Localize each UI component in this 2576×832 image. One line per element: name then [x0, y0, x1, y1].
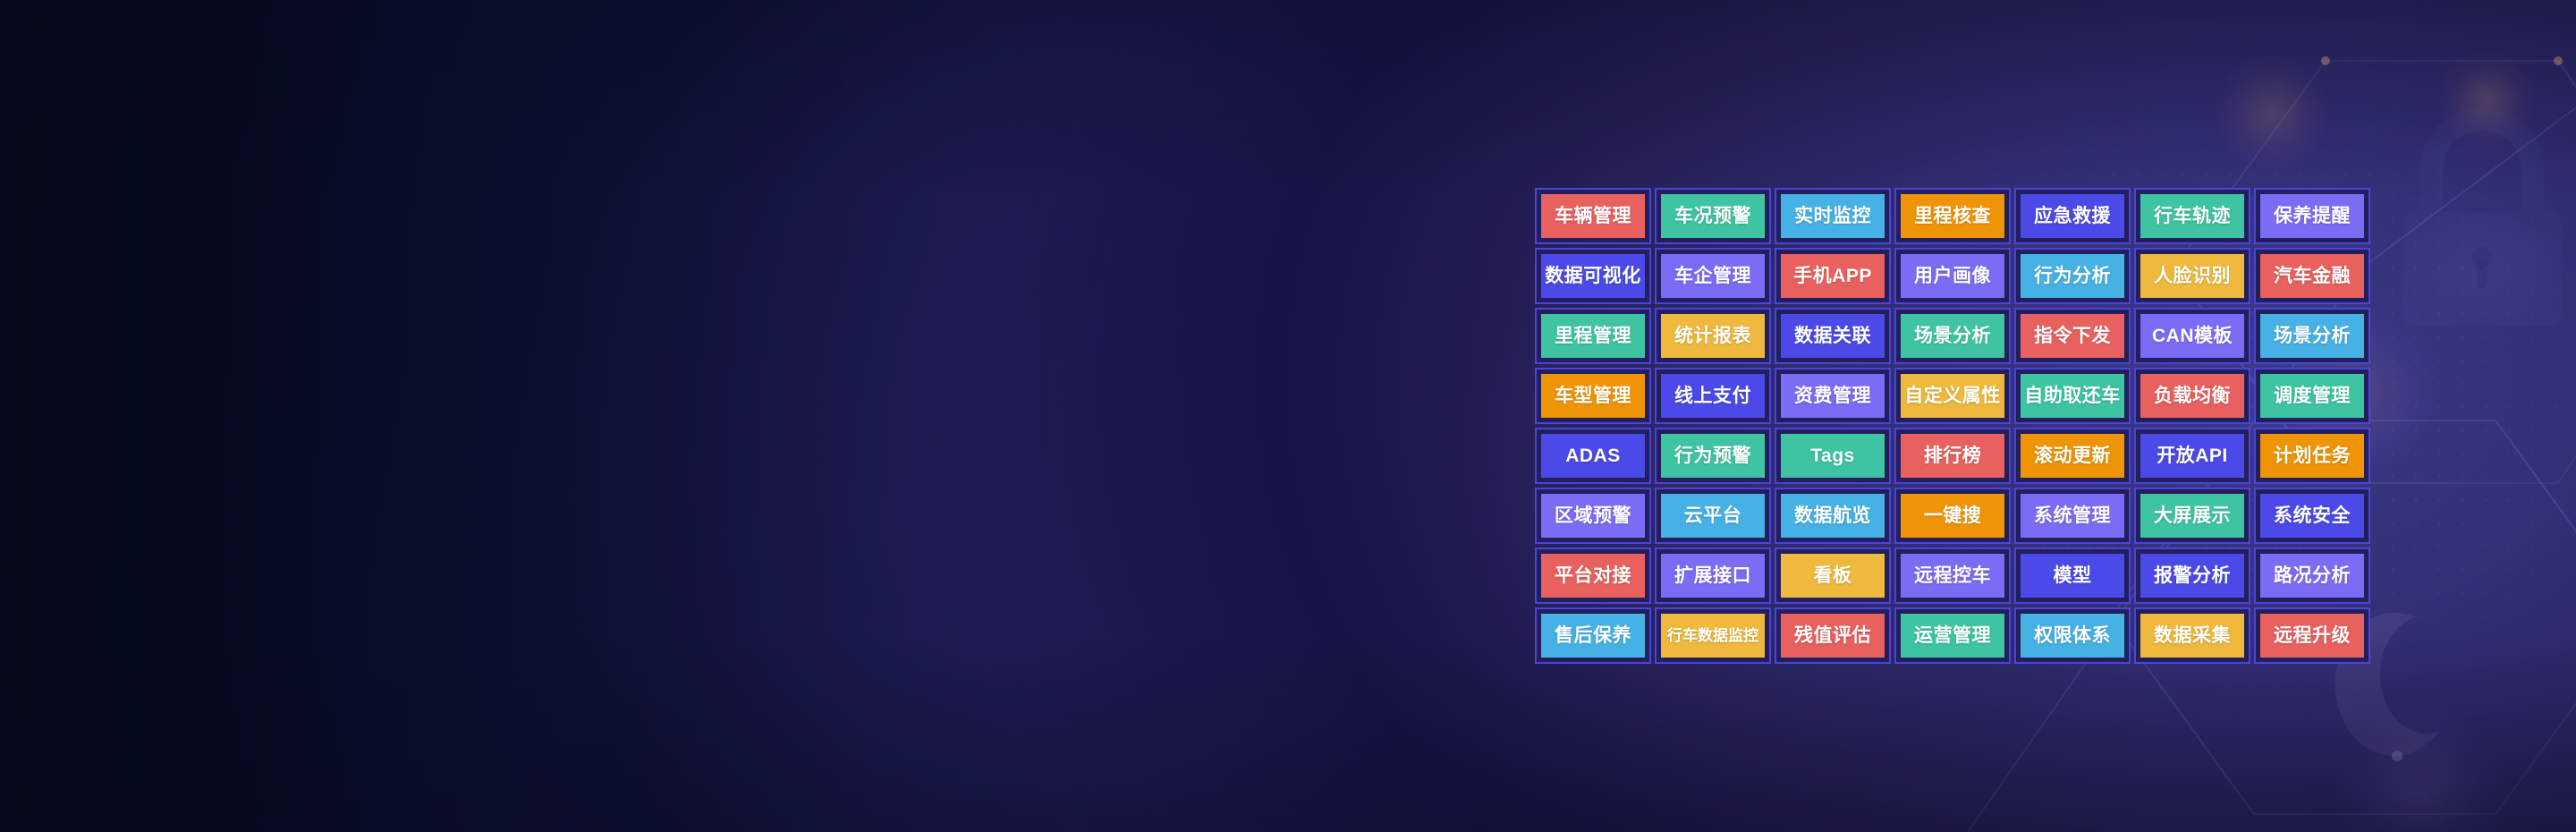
feature-tag-fill: 模型	[2021, 554, 2124, 598]
feature-tag-fill: 自定义属性	[1901, 374, 2004, 418]
feature-tag[interactable]: 场景分析	[1894, 308, 2011, 364]
feature-tag-fill: 排行榜	[1901, 434, 2004, 478]
feature-tag-fill: 场景分析	[2260, 314, 2364, 358]
feature-tag-fill: CAN模板	[2140, 314, 2244, 358]
feature-tag[interactable]: Tags	[1775, 428, 1891, 484]
feature-tag[interactable]: 路况分析	[2254, 548, 2370, 604]
feature-tag-fill: 汽车金融	[2260, 254, 2364, 298]
feature-tag-fill: 滚动更新	[2021, 434, 2124, 478]
feature-tag-label: 远程升级	[2274, 626, 2351, 645]
feature-tag-fill: 人脸识别	[2140, 254, 2244, 298]
feature-tag-label: 滚动更新	[2034, 446, 2111, 465]
feature-tag[interactable]: 数据关联	[1775, 308, 1891, 364]
feature-tag[interactable]: 大屏展示	[2134, 488, 2250, 544]
feature-tag-label: 运营管理	[1914, 626, 1991, 645]
feature-tag-label: 数据可视化	[1545, 267, 1641, 285]
feature-tag-fill: 平台对接	[1541, 554, 1645, 598]
feature-tag[interactable]: 系统管理	[2014, 488, 2131, 544]
feature-tag[interactable]: 数据航览	[1775, 488, 1891, 544]
feature-tag[interactable]: 调度管理	[2254, 368, 2370, 424]
feature-tag-label: 场景分析	[1914, 327, 1991, 345]
feature-tag-label: 负载均衡	[2154, 386, 2231, 405]
feature-tag-label: 里程管理	[1555, 327, 1631, 345]
feature-tag-fill: 行为预警	[1661, 434, 1765, 478]
feature-tag-label: 排行榜	[1924, 446, 1982, 465]
feature-tag-fill: 用户画像	[1901, 254, 2004, 298]
feature-tag[interactable]: 自助取还车	[2014, 368, 2131, 424]
feature-tag-label: 线上支付	[1674, 386, 1751, 405]
feature-tag[interactable]: 报警分析	[2134, 548, 2250, 604]
feature-tag-fill: 里程核查	[1901, 194, 2004, 238]
feature-tag[interactable]: 一键搜	[1894, 488, 2011, 544]
feature-tag[interactable]: 开放API	[2134, 428, 2250, 484]
feature-tag-label: 大屏展示	[2154, 506, 2231, 525]
feature-tag-fill: 手机APP	[1781, 254, 1885, 298]
feature-tag-fill: 车况预警	[1661, 194, 1765, 238]
feature-tag-label: 看板	[1814, 566, 1852, 585]
feature-tag[interactable]: 模型	[2014, 548, 2131, 604]
feature-tag-label: 数据关联	[1794, 327, 1871, 345]
feature-tag-label: 模型	[2054, 566, 2092, 585]
feature-tag-fill: 行车轨迹	[2140, 194, 2244, 238]
feature-tag-label: Tags	[1810, 446, 1854, 465]
feature-tag-fill: 里程管理	[1541, 314, 1645, 358]
feature-tag[interactable]: 区域预警	[1535, 488, 1651, 544]
feature-tag[interactable]: 人脸识别	[2134, 248, 2250, 304]
feature-tag[interactable]: ADAS	[1535, 428, 1651, 484]
screenshot-canvas: 车辆管理车况预警实时监控里程核查应急救援行车轨迹保养提醒数据可视化车企管理手机A…	[0, 0, 2576, 832]
feature-tag[interactable]: 资费管理	[1775, 368, 1891, 424]
feature-tag-label: 计划任务	[2274, 446, 2351, 465]
feature-tag-fill: 场景分析	[1901, 314, 2004, 358]
feature-tag-fill: 权限体系	[2021, 614, 2124, 658]
feature-tag-label: 数据采集	[2154, 626, 2231, 645]
feature-tag[interactable]: 负载均衡	[2134, 368, 2250, 424]
feature-tag-fill: 售后保养	[1541, 614, 1645, 658]
feature-tag[interactable]: 车辆管理	[1535, 188, 1651, 244]
feature-tag-label: 实时监控	[1794, 207, 1871, 225]
feature-tag-fill: 调度管理	[2260, 374, 2364, 418]
feature-tag-fill: ADAS	[1541, 434, 1645, 478]
feature-tag-fill: 远程升级	[2260, 614, 2364, 658]
feature-tag[interactable]: 滚动更新	[2014, 428, 2131, 484]
feature-tag-label: 资费管理	[1794, 386, 1871, 405]
feature-tag-fill: 残值评估	[1781, 614, 1885, 658]
feature-tag-label: 车辆管理	[1555, 207, 1631, 225]
feature-tag-label: 权限体系	[2034, 626, 2111, 645]
feature-tag-fill: 大屏展示	[2140, 494, 2244, 538]
feature-tag-label: 车型管理	[1555, 386, 1631, 405]
feature-tag-fill: 自助取还车	[2021, 374, 2124, 418]
feature-tag-label: 一键搜	[1924, 506, 1982, 525]
feature-tag-label: 系统安全	[2274, 506, 2351, 525]
feature-tag-label: 区域预警	[1555, 506, 1631, 525]
feature-tag-fill: 指令下发	[2021, 314, 2124, 358]
feature-tag[interactable]: 指令下发	[2014, 308, 2131, 364]
feature-tag[interactable]: 自定义属性	[1894, 368, 2011, 424]
feature-tag[interactable]: 权限体系	[2014, 607, 2131, 664]
feature-tag-label: 手机APP	[1793, 267, 1872, 285]
feature-tag-label: 系统管理	[2034, 506, 2111, 525]
feature-tag-label: 残值评估	[1794, 626, 1871, 645]
feature-tag-fill: 远程控车	[1901, 554, 2004, 598]
feature-tag-label: 用户画像	[1914, 267, 1991, 285]
feature-tag[interactable]: 车况预警	[1655, 188, 1771, 244]
feature-tag-fill: 路况分析	[2260, 554, 2364, 598]
feature-tag-fill: 行车数据监控	[1661, 614, 1765, 658]
feature-tag-label: 报警分析	[2154, 566, 2231, 585]
feature-tag[interactable]: CAN模板	[2134, 308, 2250, 364]
feature-tag[interactable]: 应急救援	[2014, 188, 2131, 244]
feature-tag-fill: 看板	[1781, 554, 1885, 598]
feature-tag-fill: 数据航览	[1781, 494, 1885, 538]
feature-tag-fill: 实时监控	[1781, 194, 1885, 238]
feature-tag-label: 调度管理	[2274, 386, 2351, 405]
feature-tag-fill: 线上支付	[1661, 374, 1765, 418]
feature-tag[interactable]: 行车数据监控	[1655, 607, 1771, 664]
feature-tag-label: 指令下发	[2034, 327, 2111, 345]
feature-tag-fill: 数据可视化	[1541, 254, 1645, 298]
feature-tag-fill: 计划任务	[2260, 434, 2364, 478]
feature-tag[interactable]: 计划任务	[2254, 428, 2370, 484]
feature-tag[interactable]: 云平台	[1655, 488, 1771, 544]
feature-tag-fill: 保养提醒	[2260, 194, 2364, 238]
feature-tag-fill: 区域预警	[1541, 494, 1645, 538]
feature-tag[interactable]: 远程升级	[2254, 607, 2370, 664]
feature-tag-label: 云平台	[1684, 506, 1742, 525]
feature-tag[interactable]: 数据采集	[2134, 607, 2250, 664]
feature-tag-label: 里程核查	[1914, 207, 1991, 225]
feature-tag[interactable]: 里程核查	[1894, 188, 2011, 244]
feature-tag-fill: 应急救援	[2021, 194, 2124, 238]
feature-tag-label: 远程控车	[1914, 566, 1991, 585]
feature-tag-label: CAN模板	[2152, 327, 2233, 345]
feature-tag[interactable]: 汽车金融	[2254, 248, 2370, 304]
feature-tag[interactable]: 行车轨迹	[2134, 188, 2250, 244]
feature-tag-fill: 车企管理	[1661, 254, 1765, 298]
feature-tag-label: 统计报表	[1674, 327, 1751, 345]
feature-tag-label: 车况预警	[1674, 207, 1751, 225]
feature-tag-fill: 负载均衡	[2140, 374, 2244, 418]
feature-tag[interactable]: 保养提醒	[2254, 188, 2370, 244]
feature-tag-label: 人脸识别	[2154, 267, 2231, 285]
feature-tag-label: 数据航览	[1794, 506, 1871, 525]
feature-tag[interactable]: 车企管理	[1655, 248, 1771, 304]
feature-tag-label: 平台对接	[1555, 566, 1631, 585]
feature-tag-fill: 行为分析	[2021, 254, 2124, 298]
feature-tag-fill: 数据采集	[2140, 614, 2244, 658]
feature-tag-label: 开放API	[2157, 446, 2228, 465]
feature-tag[interactable]: 残值评估	[1775, 607, 1891, 664]
feature-tag[interactable]: 排行榜	[1894, 428, 2011, 484]
feature-tag[interactable]: 售后保养	[1535, 607, 1651, 664]
feature-tag[interactable]: 行为预警	[1655, 428, 1771, 484]
feature-tag-label: 保养提醒	[2274, 207, 2351, 225]
feature-tag-label: 售后保养	[1555, 626, 1631, 645]
feature-tag-fill: 数据关联	[1781, 314, 1885, 358]
feature-tag-label: 应急救援	[2034, 207, 2111, 225]
feature-tag-fill: 报警分析	[2140, 554, 2244, 598]
feature-tag-label: 场景分析	[2274, 327, 2351, 345]
feature-tag-label: ADAS	[1565, 446, 1621, 465]
feature-tag-label: 行车数据监控	[1667, 628, 1758, 643]
feature-tag-fill: 系统安全	[2260, 494, 2364, 538]
feature-tag-label: 行车轨迹	[2154, 207, 2231, 225]
feature-tag-label: 行为分析	[2034, 267, 2111, 285]
feature-tag-fill: 统计报表	[1661, 314, 1765, 358]
feature-tag-fill: 车辆管理	[1541, 194, 1645, 238]
feature-tag[interactable]: 数据可视化	[1535, 248, 1651, 304]
feature-tag-label: 路况分析	[2274, 566, 2351, 585]
feature-tag-label: 扩展接口	[1674, 566, 1751, 585]
feature-tag-grid: 车辆管理车况预警实时监控里程核查应急救援行车轨迹保养提醒数据可视化车企管理手机A…	[1535, 188, 2370, 664]
feature-tag-fill: Tags	[1781, 434, 1885, 478]
feature-tag-label: 自定义属性	[1904, 386, 2001, 405]
feature-tag-label: 自助取还车	[2024, 386, 2121, 405]
feature-tag[interactable]: 线上支付	[1655, 368, 1771, 424]
feature-tag[interactable]: 实时监控	[1775, 188, 1891, 244]
feature-tag[interactable]: 系统安全	[2254, 488, 2370, 544]
feature-tag-label: 车企管理	[1674, 267, 1751, 285]
feature-tag-fill: 云平台	[1661, 494, 1765, 538]
feature-tag[interactable]: 用户画像	[1894, 248, 2011, 304]
feature-tag-fill: 开放API	[2140, 434, 2244, 478]
feature-tag[interactable]: 里程管理	[1535, 308, 1651, 364]
feature-tag-fill: 扩展接口	[1661, 554, 1765, 598]
feature-tag-fill: 系统管理	[2021, 494, 2124, 538]
feature-tag-label: 行为预警	[1674, 446, 1751, 465]
feature-tag[interactable]: 统计报表	[1655, 308, 1771, 364]
feature-tag-fill: 一键搜	[1901, 494, 2004, 538]
feature-tag[interactable]: 手机APP	[1775, 248, 1891, 304]
feature-tag[interactable]: 远程控车	[1894, 548, 2011, 604]
feature-tag[interactable]: 扩展接口	[1655, 548, 1771, 604]
feature-tag-fill: 车型管理	[1541, 374, 1645, 418]
feature-tag[interactable]: 车型管理	[1535, 368, 1651, 424]
feature-tag-fill: 资费管理	[1781, 374, 1885, 418]
feature-tag[interactable]: 运营管理	[1894, 607, 2011, 664]
feature-tag-label: 汽车金融	[2274, 267, 2351, 285]
feature-tag[interactable]: 看板	[1775, 548, 1891, 604]
feature-tag[interactable]: 平台对接	[1535, 548, 1651, 604]
feature-tag-fill: 运营管理	[1901, 614, 2004, 658]
feature-tag[interactable]: 场景分析	[2254, 308, 2370, 364]
feature-tag[interactable]: 行为分析	[2014, 248, 2131, 304]
